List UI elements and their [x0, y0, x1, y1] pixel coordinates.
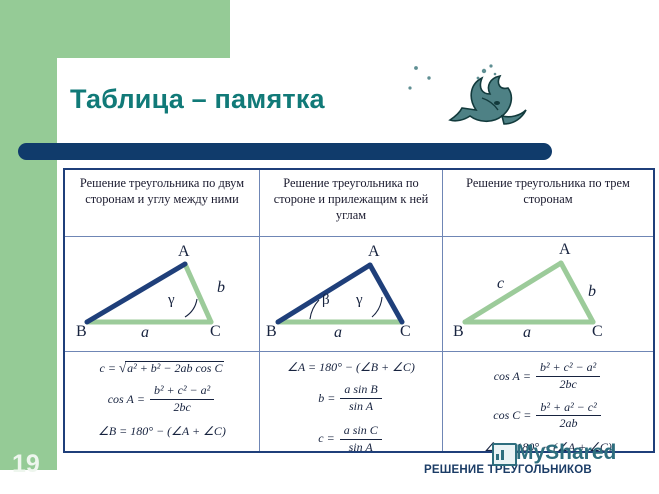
- formula-group-1: c = √ a² + b² − 2ab cos C cos A = b² + c…: [65, 352, 259, 438]
- table-header-cell-1: Решение треугольника по двум сторонам и …: [65, 170, 260, 236]
- reference-table: Решение треугольника по двум сторонам и …: [63, 168, 655, 453]
- formula-3-2-num: b² + a² − c²: [536, 401, 600, 417]
- myshared-watermark: MyShared: [516, 441, 616, 465]
- formula-1-2-lhs: cos A: [108, 393, 134, 406]
- formula-3-2-eq: =: [523, 409, 531, 422]
- fraction-1-2: b² + c² − a² 2bc: [150, 384, 214, 415]
- table-figure-row: A B C a b γ A: [65, 237, 653, 352]
- formula-3-2-den: 2ab: [556, 416, 582, 431]
- green-sidebar-panel: [0, 0, 57, 470]
- angle-label-gamma-2: γ: [356, 292, 363, 309]
- side-label-c-3: c: [497, 275, 504, 293]
- side-label-a-2: a: [334, 324, 342, 342]
- table-header-cell-2: Решение треугольника по стороне и прилеж…: [260, 170, 443, 236]
- header-text-2: Решение треугольника по стороне и прилеж…: [260, 170, 442, 224]
- header-text-3: Решение треугольника по трем сторонам: [443, 170, 653, 208]
- fraction-2-3: a sin C sin A: [340, 424, 382, 451]
- formula-3-1-lhs: cos A: [494, 370, 520, 383]
- dolphin-illustration: [398, 58, 538, 140]
- formula-1-2-eq: =: [137, 393, 145, 406]
- header-text-1: Решение треугольника по двум сторонам и …: [65, 170, 259, 208]
- vertex-label-A-3: A: [559, 241, 571, 259]
- side-label-b-1: b: [217, 279, 225, 297]
- figure-cell-2: A B C a β γ: [260, 237, 443, 351]
- vertex-label-B-3: B: [453, 323, 464, 341]
- triangle-diagram-1: A B C a b γ: [65, 237, 259, 351]
- triangle-svg-1: [65, 237, 260, 351]
- formula-3-1-num: b² + c² − a²: [536, 361, 600, 377]
- figure-cell-3: A B C a b c: [443, 237, 653, 351]
- formula-cell-2: ∠A = 180° − (∠B + ∠C) b = a sin B sin A …: [260, 352, 443, 451]
- vertex-label-C-1: C: [210, 323, 221, 341]
- formula-3-1-eq: =: [523, 370, 531, 383]
- formula-group-2: ∠A = 180° − (∠B + ∠C) b = a sin B sin A …: [260, 352, 442, 451]
- formula-2-3-num: a sin C: [340, 424, 382, 440]
- triangle-diagram-3: A B C a b c: [443, 237, 653, 351]
- vertex-label-B-1: B: [76, 323, 87, 341]
- formula-3-1: cos A = b² + c² − a² 2bc: [447, 361, 649, 392]
- slide: Таблица – памятка Решение треугольника п…: [0, 0, 659, 494]
- formula-3-2-lhs: cos C: [493, 409, 520, 422]
- formula-1-1-eq: =: [108, 362, 116, 375]
- table-formula-row: c = √ a² + b² − 2ab cos C cos A = b² + c…: [65, 352, 653, 451]
- fraction-3-1: b² + c² − a² 2bc: [536, 361, 600, 392]
- page-title: Таблица – памятка: [70, 84, 325, 115]
- triangle-diagram-2: A B C a β γ: [260, 237, 442, 351]
- angle-label-gamma-1: γ: [168, 292, 175, 309]
- formula-2-2-lhs: b: [318, 392, 324, 405]
- formula-2-2: b = a sin B sin A: [264, 383, 438, 414]
- formula-1-1-radicand: a² + b² − 2ab cos C: [125, 361, 224, 375]
- triangle-svg-3: [443, 237, 653, 351]
- table-header-row: Решение треугольника по двум сторонам и …: [65, 170, 653, 237]
- formula-group-3: cos A = b² + c² − a² 2bc cos C = b² + a²…: [443, 352, 653, 451]
- formula-1-2-den: 2bc: [169, 400, 194, 415]
- formula-1-2-num: b² + c² − a²: [150, 384, 214, 400]
- formula-2-2-eq: =: [327, 392, 335, 405]
- formula-2-3-den: sin A: [345, 440, 377, 451]
- triangle-svg-2: [260, 237, 443, 351]
- radical-1: √ a² + b² − 2ab cos C: [119, 361, 225, 375]
- formula-2-1: ∠A = 180° − (∠B + ∠C): [264, 361, 438, 374]
- formula-3-1-den: 2bc: [555, 377, 580, 392]
- formula-cell-1: c = √ a² + b² − 2ab cos C cos A = b² + c…: [65, 352, 260, 451]
- formula-2-2-num: a sin B: [340, 383, 381, 399]
- side-label-b-3: b: [588, 283, 596, 301]
- figure-cell-1: A B C a b γ: [65, 237, 260, 351]
- navy-divider-bar: [18, 143, 552, 160]
- vertex-label-C-2: C: [400, 323, 411, 341]
- formula-2-2-den: sin A: [345, 399, 377, 414]
- formula-3-2: cos C = b² + a² − c² 2ab: [447, 401, 649, 432]
- table-header-cell-3: Решение треугольника по трем сторонам: [443, 170, 653, 236]
- formula-1-3: ∠B = 180° − (∠A + ∠C): [69, 425, 255, 438]
- formula-2-3: c = a sin C sin A: [264, 424, 438, 451]
- vertex-label-A-1: A: [178, 243, 190, 261]
- formula-1-1-lhs: c: [100, 362, 105, 375]
- formula-1-2: cos A = b² + c² − a² 2bc: [69, 384, 255, 415]
- side-label-a-1: a: [141, 324, 149, 342]
- dolphin-icon: [398, 58, 538, 140]
- myshared-logo-icon: [492, 443, 517, 466]
- vertex-label-A-2: A: [368, 243, 380, 261]
- formula-2-3-eq: =: [327, 432, 335, 445]
- page-number: 19: [12, 450, 40, 479]
- formula-1-1: c = √ a² + b² − 2ab cos C: [69, 361, 255, 375]
- fraction-2-2: a sin B sin A: [340, 383, 381, 414]
- formula-2-3-lhs: c: [318, 432, 323, 445]
- side-label-a-3: a: [523, 324, 531, 342]
- vertex-label-B-2: B: [266, 323, 277, 341]
- angle-label-beta-2: β: [322, 292, 330, 309]
- formula-cell-3: cos A = b² + c² − a² 2bc cos C = b² + a²…: [443, 352, 653, 451]
- fraction-3-2: b² + a² − c² 2ab: [536, 401, 600, 432]
- vertex-label-C-3: C: [592, 323, 603, 341]
